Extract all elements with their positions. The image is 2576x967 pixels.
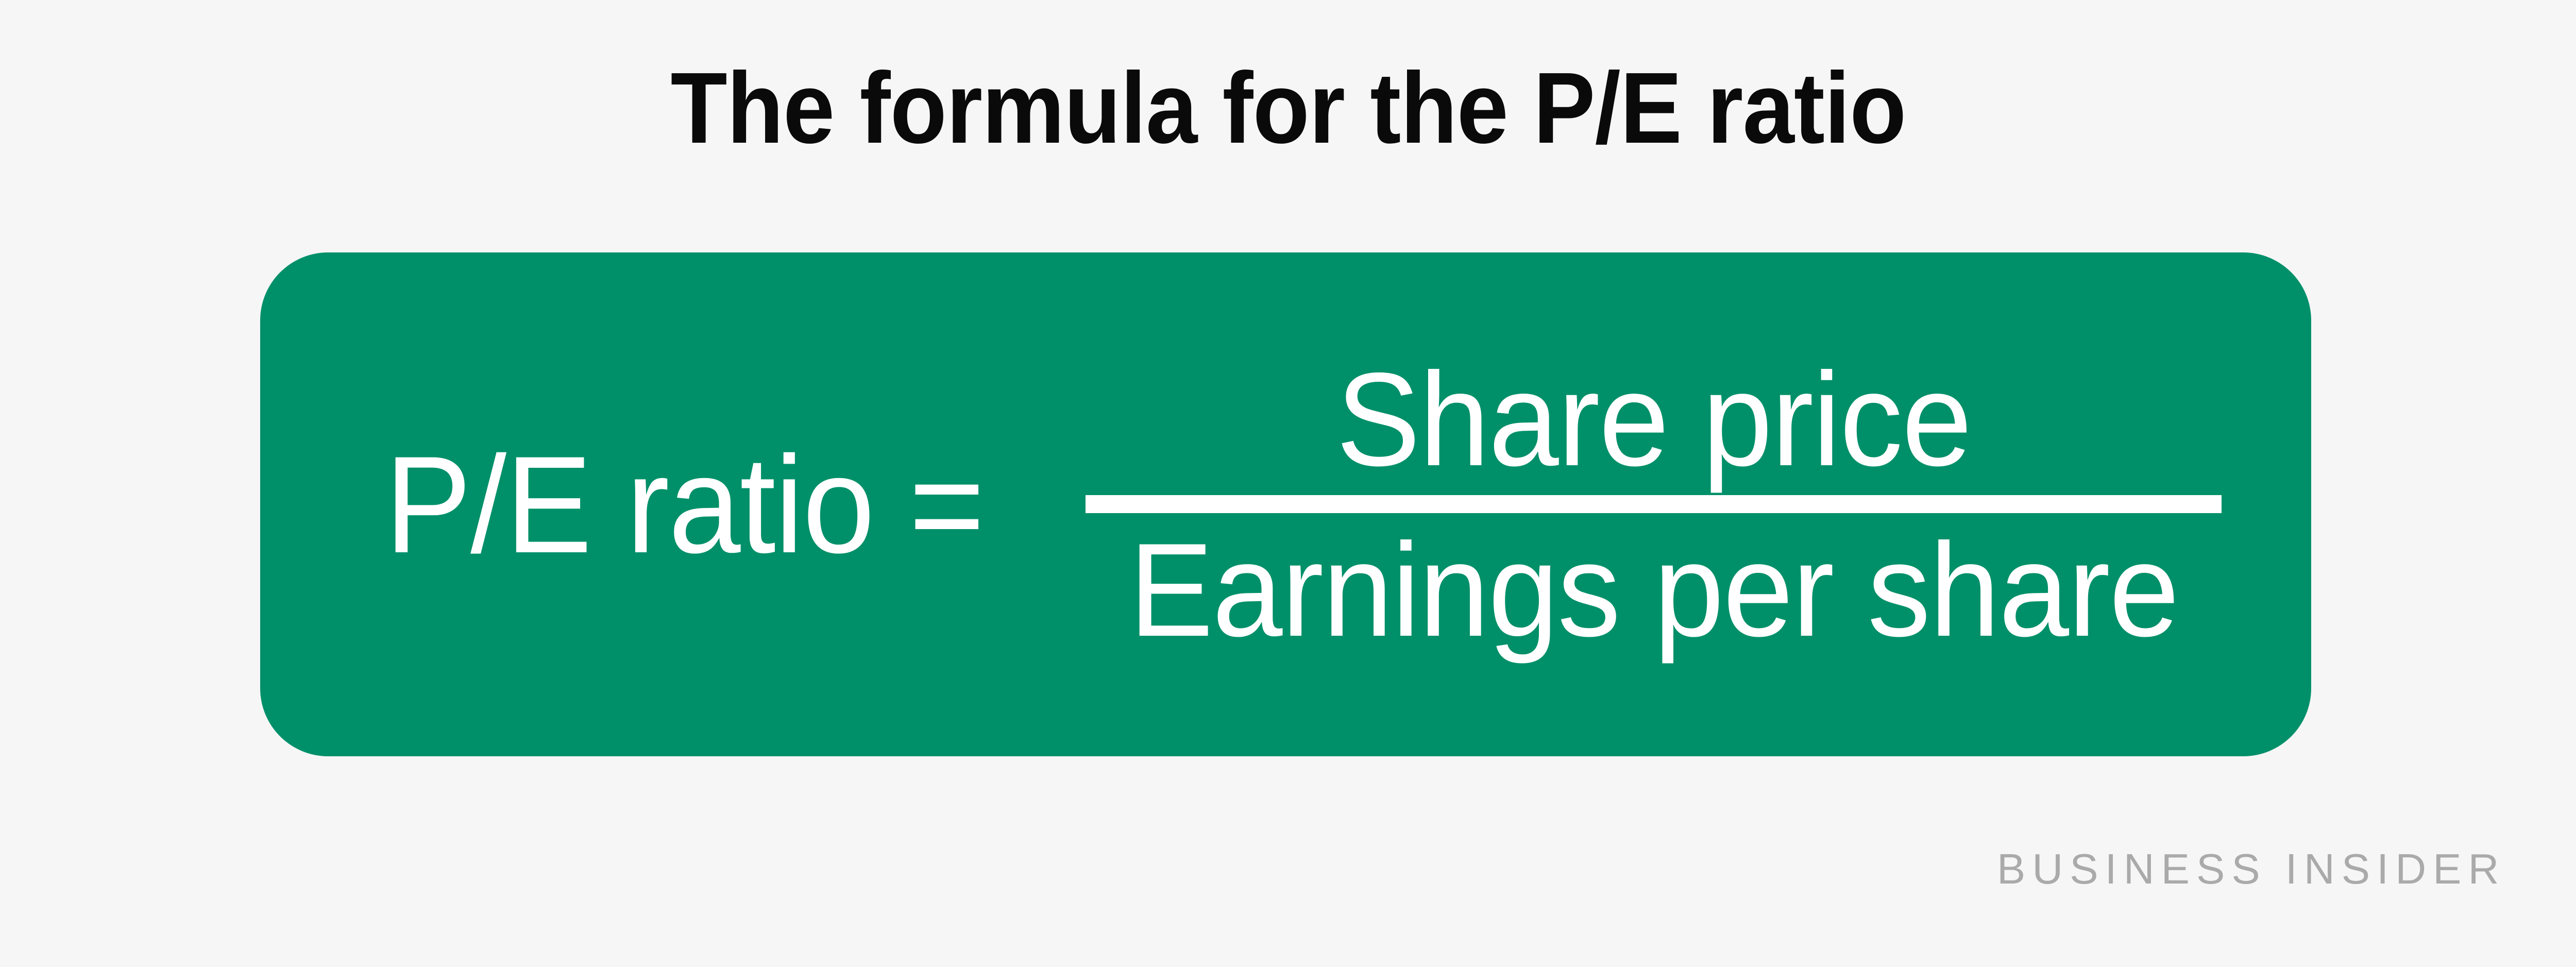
page-title: The formula for the P/E ratio [103,57,2473,160]
formula-fraction: Share price Earnings per share [1086,252,2222,756]
formula-lhs-label: P/E ratio = [385,435,984,573]
formula-left-side: P/E ratio = [385,252,1022,756]
fraction-numerator: Share price [1336,348,1971,491]
fraction-bar [1086,495,2222,513]
formula-card: P/E ratio = Share price Earnings per sha… [260,252,2311,756]
business-insider-watermark: BUSINESS INSIDER [1997,847,2505,890]
fraction-denominator: Earnings per share [1129,518,2178,661]
infographic-canvas: The formula for the P/E ratio P/E ratio … [0,0,2576,967]
